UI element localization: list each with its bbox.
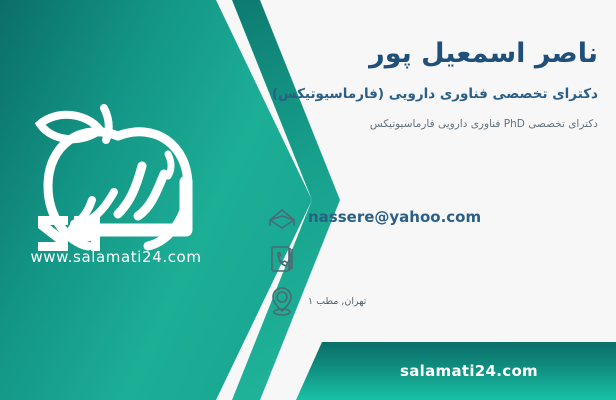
contact-row-address[interactable]: تهران, مطب ۱ bbox=[266, 280, 598, 322]
business-card: www.salamati24.com ناصر اسمعیل پور دکترا… bbox=[0, 0, 616, 400]
email-value: nassere@yahoo.com bbox=[308, 208, 481, 226]
contact-list: nassere@yahoo.com bbox=[266, 196, 598, 322]
location-pin-icon bbox=[266, 285, 298, 317]
person-title: دکترای تخصصی فناوری دارویی (فارماسیوتیکس… bbox=[266, 70, 598, 104]
contact-row-phone[interactable] bbox=[266, 238, 598, 280]
address-value: تهران, مطب ۱ bbox=[308, 296, 366, 307]
logo-url: www.salamati24.com bbox=[18, 248, 214, 266]
person-title-alt: دکترای تخصصی PhD فناوری دارویی فارماسیوت… bbox=[266, 105, 598, 133]
phone-book-icon bbox=[266, 243, 298, 275]
card-content: ناصر اسمعیل پور دکترای تخصصی فناوری دارو… bbox=[266, 0, 598, 400]
contact-row-email[interactable]: nassere@yahoo.com bbox=[266, 196, 598, 238]
person-name: ناصر اسمعیل پور bbox=[266, 0, 598, 70]
brand-script bbox=[74, 154, 186, 230]
footer-website[interactable]: salamati24.com bbox=[322, 342, 616, 400]
leaf-icon bbox=[40, 108, 109, 140]
envelope-icon bbox=[266, 201, 298, 233]
brand-logo: www.salamati24.com bbox=[18, 96, 214, 281]
